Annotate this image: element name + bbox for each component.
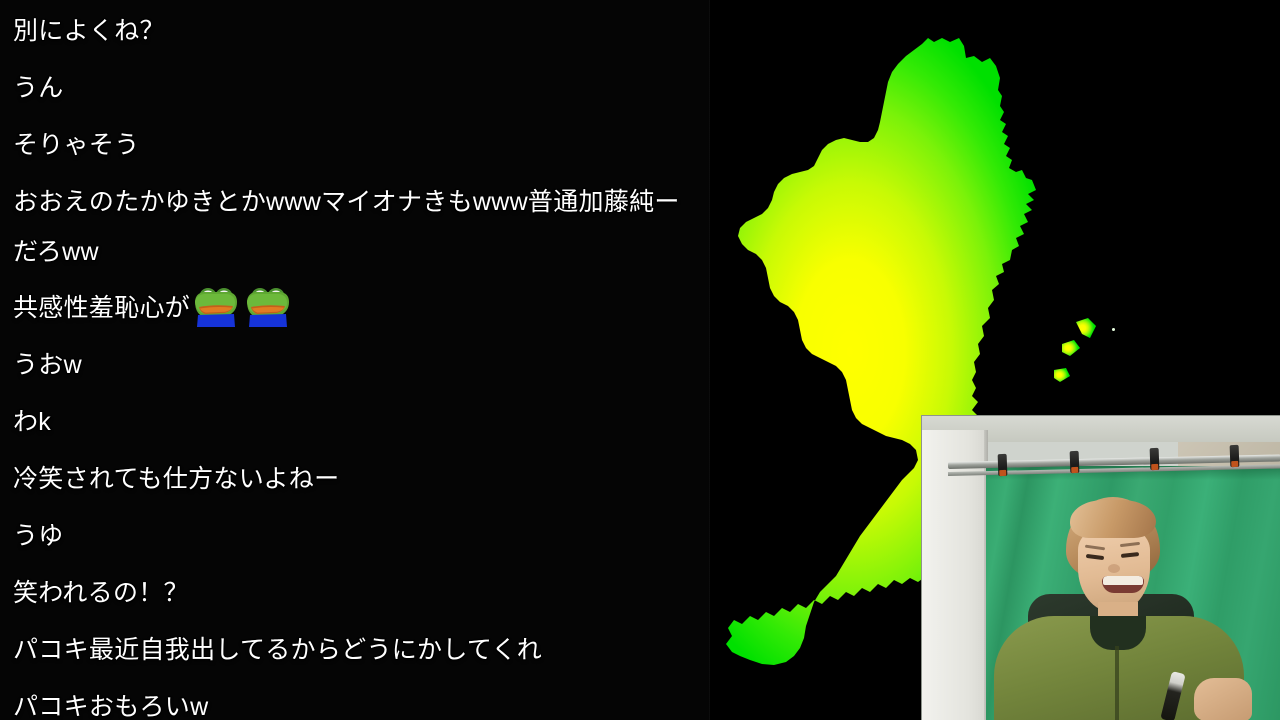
chat-message: うおw [13,340,703,390]
chat-message-text: わk [13,408,51,436]
chat-message: そりゃそう [13,120,703,170]
jacket-collar [1090,616,1146,650]
chat-message: わk [13,397,703,447]
teeth [1103,576,1143,585]
chat-message-text: 共感性羞恥心が [13,294,190,322]
jacket-zipper [1115,646,1119,720]
chat-pane[interactable]: 別によくね？ うん そりゃそう おおえのたかゆきとかwwwマイオナきもwww普通… [0,0,710,720]
chat-message-text: うゆ [13,522,64,550]
pepe-frog-emote [244,285,292,327]
pepe-frog-emote [192,285,240,327]
streamer-fringe [1070,500,1156,538]
chat-message-list: 別によくね？ うん そりゃそう おおえのたかゆきとかwwwマイオナきもwww普通… [13,6,703,720]
chat-message: うん [13,63,703,113]
stream-stage: 別によくね？ うん そりゃそう おおえのたかゆきとかwwwマイオナきもwww普通… [0,0,1280,720]
chat-message: パコキおもろいw [13,682,703,720]
nose [1108,564,1120,573]
chat-message-text: おおえのたかゆきとかwwwマイオナきもwww普通加藤純ーだろww [13,188,680,266]
chat-message-text: そりゃそう [13,131,140,159]
chat-message-text: パコキ最近自我出してるからどうにかしてくれ [13,636,542,664]
chat-message-text: うん [13,74,64,102]
binder-clip-icon [1230,445,1240,467]
binder-clip-icon [1070,451,1080,473]
chat-message: 笑われるの！？ [13,568,703,618]
chat-message: 別によくね？ [13,6,703,56]
offshore-islet [1062,340,1080,356]
chat-message-text: パコキおもろいw [13,693,208,720]
streamer-hand [1194,678,1252,720]
offshore-islet [1054,368,1070,382]
chat-message: パコキ最近自我出してるからどうにかしてくれ [13,625,703,675]
binder-clip-icon [998,454,1008,476]
chat-message: 共感性羞恥心が [13,283,703,333]
chat-message: 冷笑されても仕方ないよねー [13,454,703,504]
chat-message-text: うおw [13,351,82,379]
chat-message-text: 別によくね？ [13,17,165,45]
chat-message-text: 笑われるの！？ [13,579,189,607]
chat-message: うゆ [13,511,703,561]
offshore-island-marker [1112,328,1115,331]
chat-message-text: 冷笑されても仕方ないよねー [13,465,339,493]
chat-message: おおえのたかゆきとかwwwマイオナきもwww普通加藤純ーだろww [13,177,703,277]
binder-clip-icon [1150,448,1160,470]
offshore-islet [1076,318,1096,338]
webcam-overlay[interactable] [921,415,1280,720]
mouth-smiling [1102,576,1144,593]
